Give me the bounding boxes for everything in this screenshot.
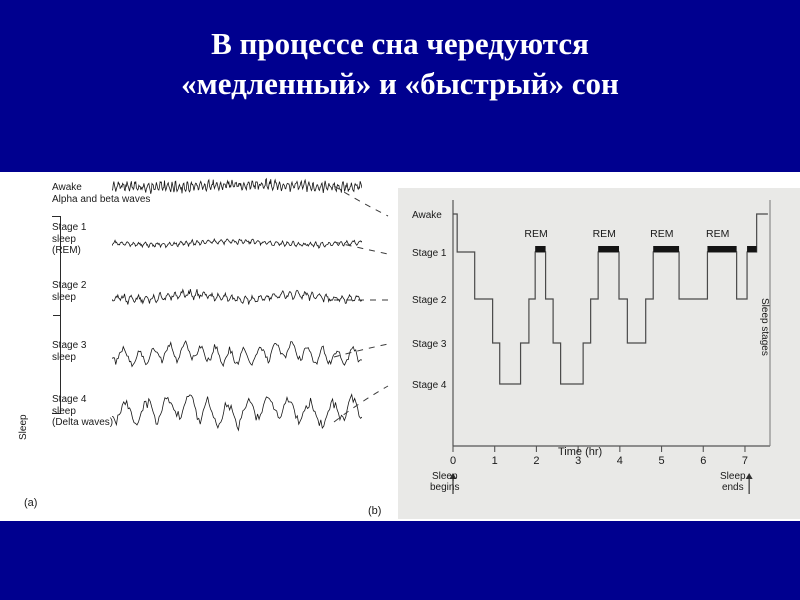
sleep-bracket-label: Sleep <box>18 414 29 440</box>
x-tick-0: 0 <box>446 455 460 467</box>
figure-tag-a: (a) <box>24 497 37 509</box>
x-tick-6: 6 <box>696 455 710 467</box>
rem-label-3: REM <box>650 228 673 240</box>
rem-label-4: REM <box>706 228 729 240</box>
figure-band: Sleep Awake Alpha and beta waves Stage 1… <box>0 172 800 521</box>
title-line-2: «медленный» и «быстрый» сон <box>0 64 800 104</box>
x-tick-5: 5 <box>655 455 669 467</box>
panel-a-eeg-traces: Sleep Awake Alpha and beta waves Stage 1… <box>0 172 398 521</box>
eeg-trace-stage-2 <box>112 280 362 314</box>
x-tick-1: 1 <box>488 455 502 467</box>
eeg-trace-stage-1 <box>112 230 362 256</box>
figure-tag-b: (b) <box>368 505 381 517</box>
x-tick-4: 4 <box>613 455 627 467</box>
x-tick-7: 7 <box>738 455 752 467</box>
eeg-trace-stage-4 <box>112 382 362 438</box>
x-tick-2: 2 <box>529 455 543 467</box>
eeg-label-stage-4: Stage 4 sleep (Delta waves) <box>52 394 113 429</box>
eeg-trace-stage-3 <box>112 330 362 376</box>
sleep-begins-label: Sleep begins <box>430 471 459 493</box>
panel-b-hypnogram: Awake Stage 1 Stage 2 Stage 3 Stage 4 RE… <box>398 188 800 519</box>
eeg-label-stage-3: Stage 3 sleep <box>52 340 86 363</box>
rem-label-1: REM <box>524 228 547 240</box>
eeg-label-stage-1: Stage 1 sleep (REM) <box>52 222 86 257</box>
title-line-1: В процессе сна чередуются <box>211 26 589 61</box>
slide-root: В процессе сна чередуются «медленный» и … <box>0 0 800 600</box>
eeg-trace-awake <box>112 172 362 202</box>
x-axis-title: Time (hr) <box>558 446 602 458</box>
eeg-label-stage-2: Stage 2 sleep <box>52 280 86 303</box>
y-axis-right-label: Sleep stages <box>759 298 770 356</box>
rem-label-2: REM <box>593 228 616 240</box>
page-title: В процессе сна чередуются «медленный» и … <box>0 24 800 104</box>
sleep-ends-label: Sleep ends <box>720 471 746 493</box>
connector-lines <box>330 172 400 502</box>
